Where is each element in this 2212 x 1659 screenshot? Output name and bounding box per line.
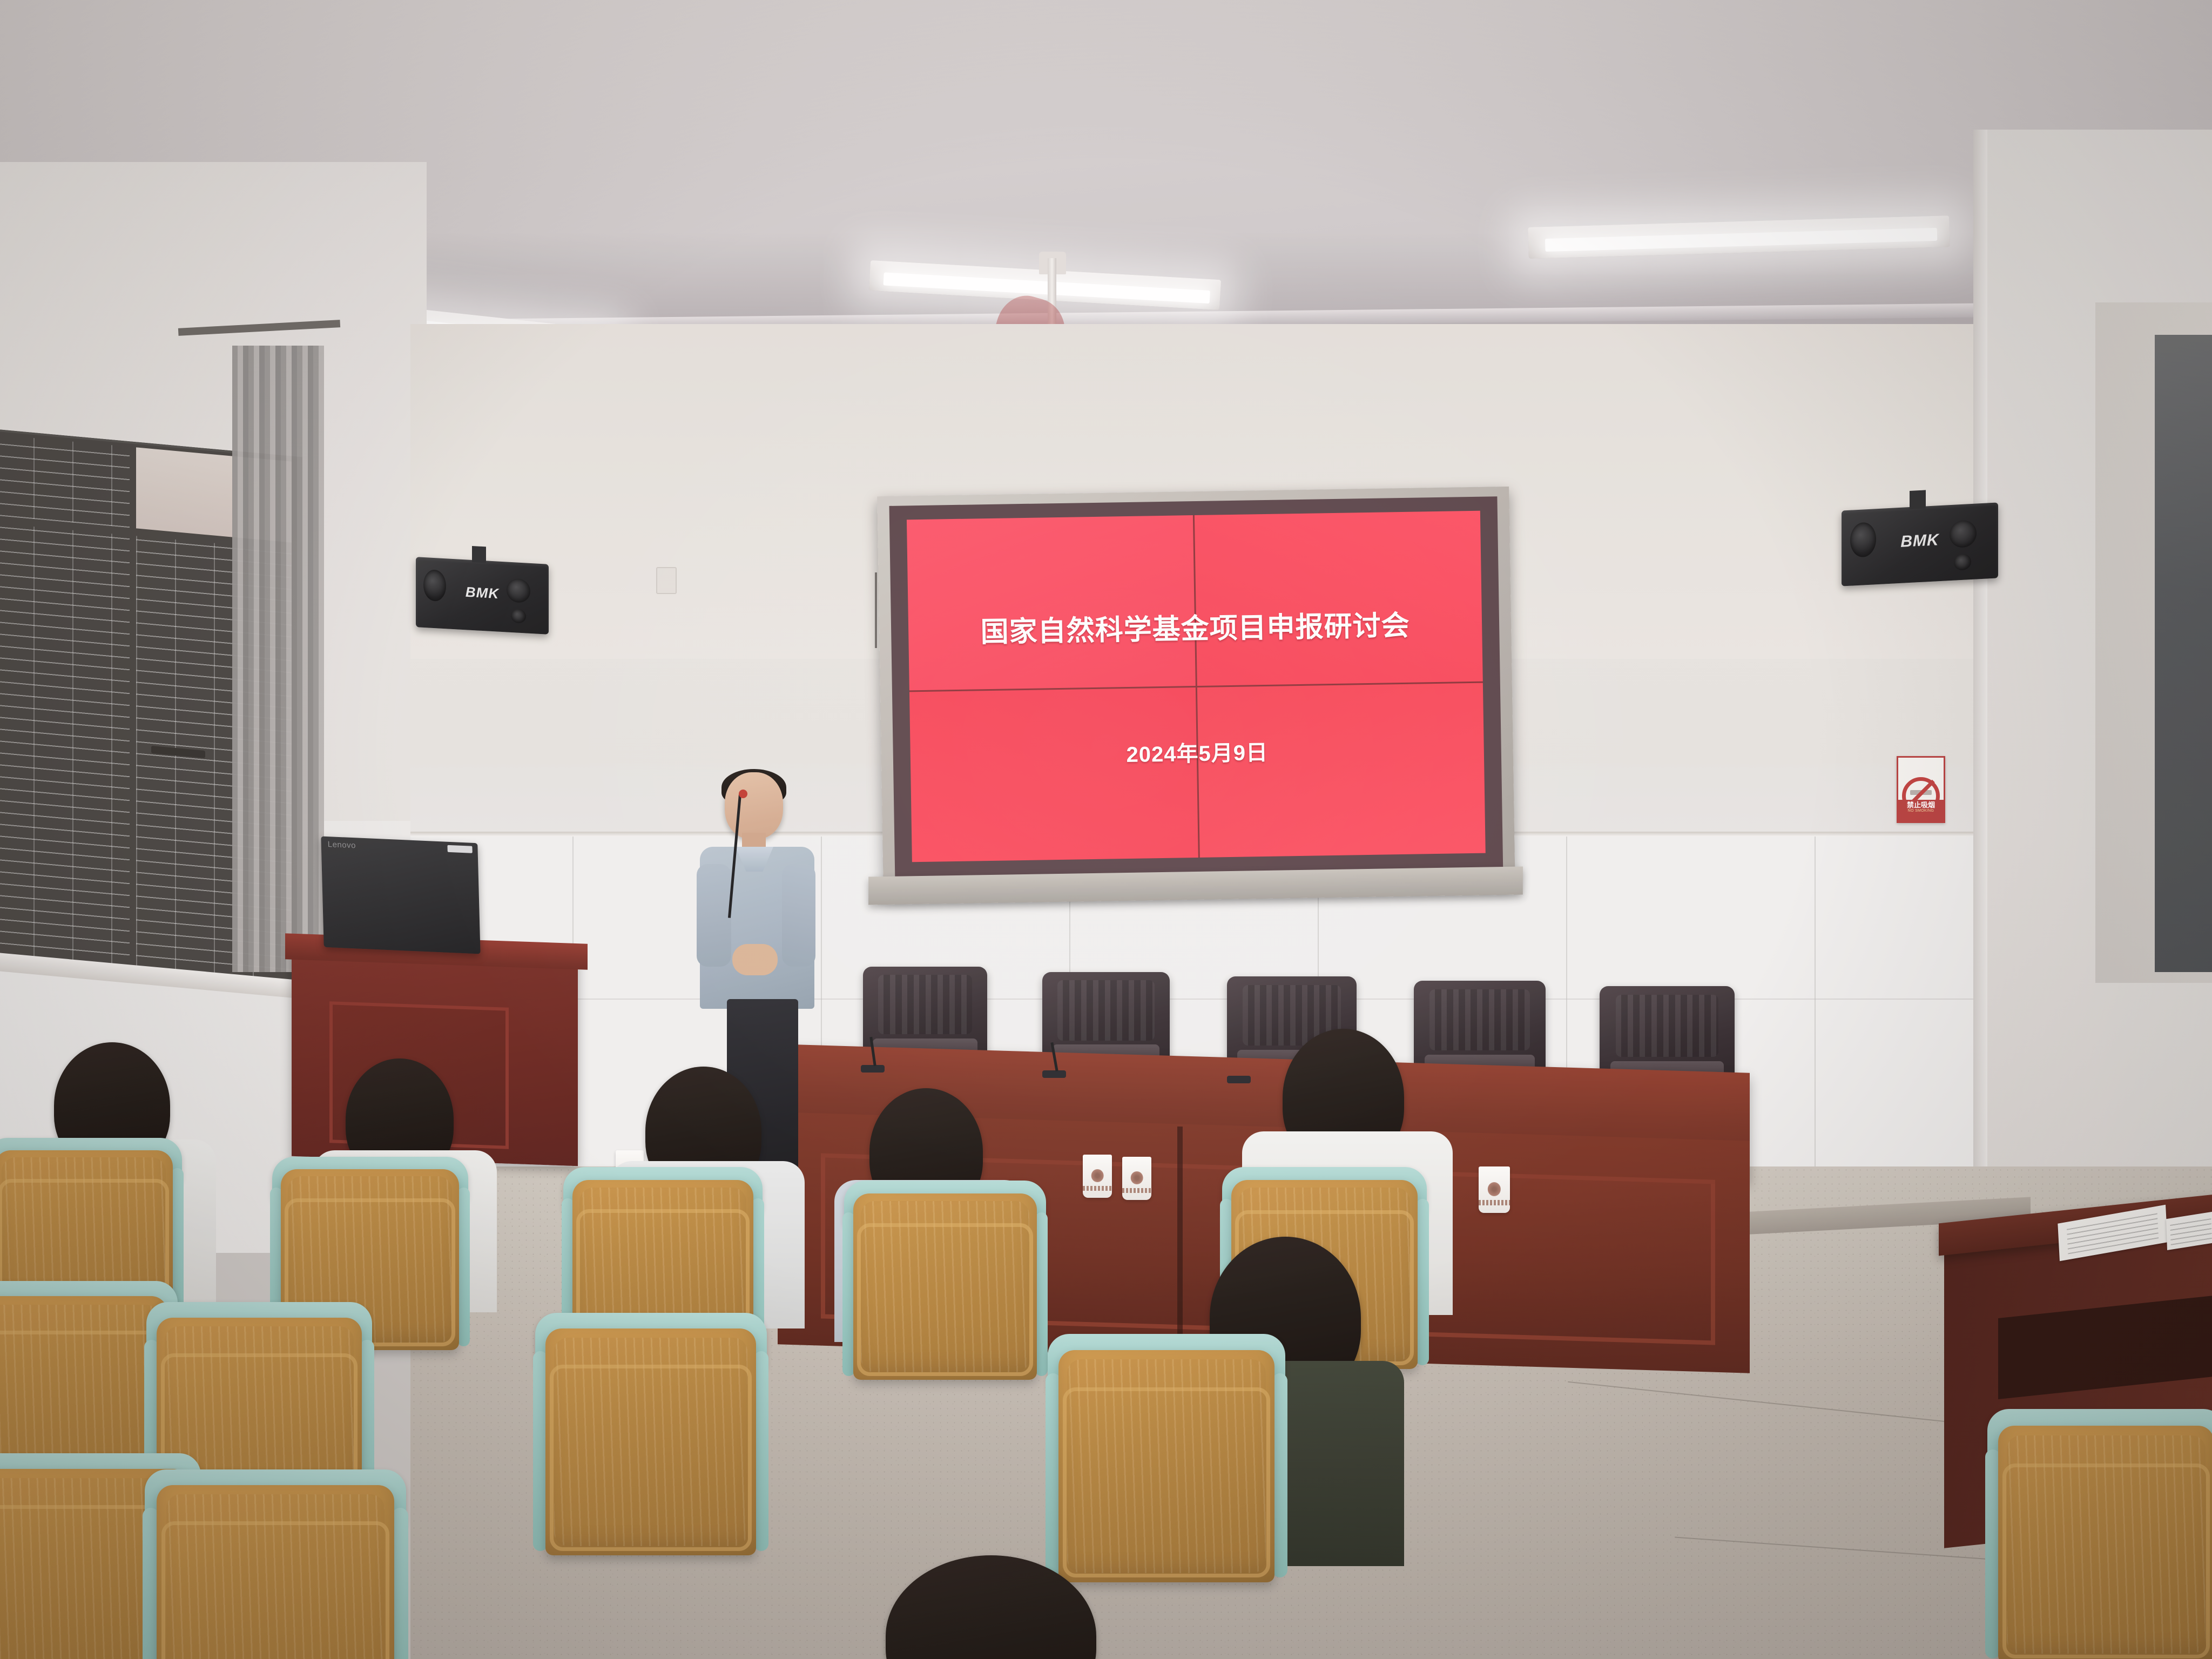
no-smoking-cn: 禁止吸烟 <box>1907 801 1935 809</box>
auditorium-seat[interactable] <box>157 1485 394 1659</box>
auditorium-seat[interactable] <box>1998 1426 2212 1659</box>
podium-monitor[interactable]: Lenovo <box>321 837 480 954</box>
desk-microphone-base <box>861 1065 885 1073</box>
monitor-asset-tag <box>447 845 472 853</box>
wall-outlet-plate <box>656 567 677 594</box>
microphone-tip <box>739 790 747 798</box>
display-panel <box>1197 683 1485 858</box>
display-panel-grid <box>907 511 1486 862</box>
right-window-glass <box>2155 335 2212 972</box>
presenter-arm <box>782 864 815 967</box>
presenter-arm <box>697 864 731 967</box>
auditorium-seat[interactable] <box>545 1328 756 1555</box>
display-panel <box>1194 511 1482 686</box>
display-panel <box>909 687 1198 862</box>
desk-microphone-base <box>1227 1076 1251 1083</box>
wall-cable <box>875 572 877 648</box>
desk-microphone-base <box>1042 1070 1066 1078</box>
speaker-brand-label: BMK <box>1900 531 1939 552</box>
monitor-brand-label: Lenovo <box>328 840 356 850</box>
video-wall-display[interactable]: 国家自然科学基金项目申报研讨会 2024年5月9日 <box>877 487 1515 896</box>
presenter-hands <box>732 944 778 975</box>
curtain <box>232 346 324 972</box>
auditorium-seat[interactable] <box>853 1193 1037 1380</box>
no-smoking-label: 禁止吸烟 NO SMOKING <box>1898 800 1944 821</box>
auditorium-seat[interactable] <box>1058 1350 1274 1582</box>
speaker-brand-label: BMK <box>466 584 499 602</box>
wall-speaker-left: BMK <box>416 557 549 635</box>
no-smoking-en: NO SMOKING <box>1898 809 1944 813</box>
no-smoking-sign: 禁止吸烟 NO SMOKING <box>1897 756 1945 823</box>
conference-room-scene: BMK BMK 国家自然科学基金项目申报研讨会 2024年5月9日 禁止吸烟 <box>0 0 2212 1659</box>
paper-cup[interactable] <box>1083 1155 1112 1198</box>
conference-table-seam <box>1177 1127 1183 1359</box>
paper-cup[interactable] <box>1122 1157 1151 1200</box>
display-panel <box>907 515 1195 690</box>
paper-cup[interactable] <box>1479 1166 1510 1213</box>
presenter-head <box>725 772 783 839</box>
wall-speaker-right: BMK <box>1842 502 1998 586</box>
